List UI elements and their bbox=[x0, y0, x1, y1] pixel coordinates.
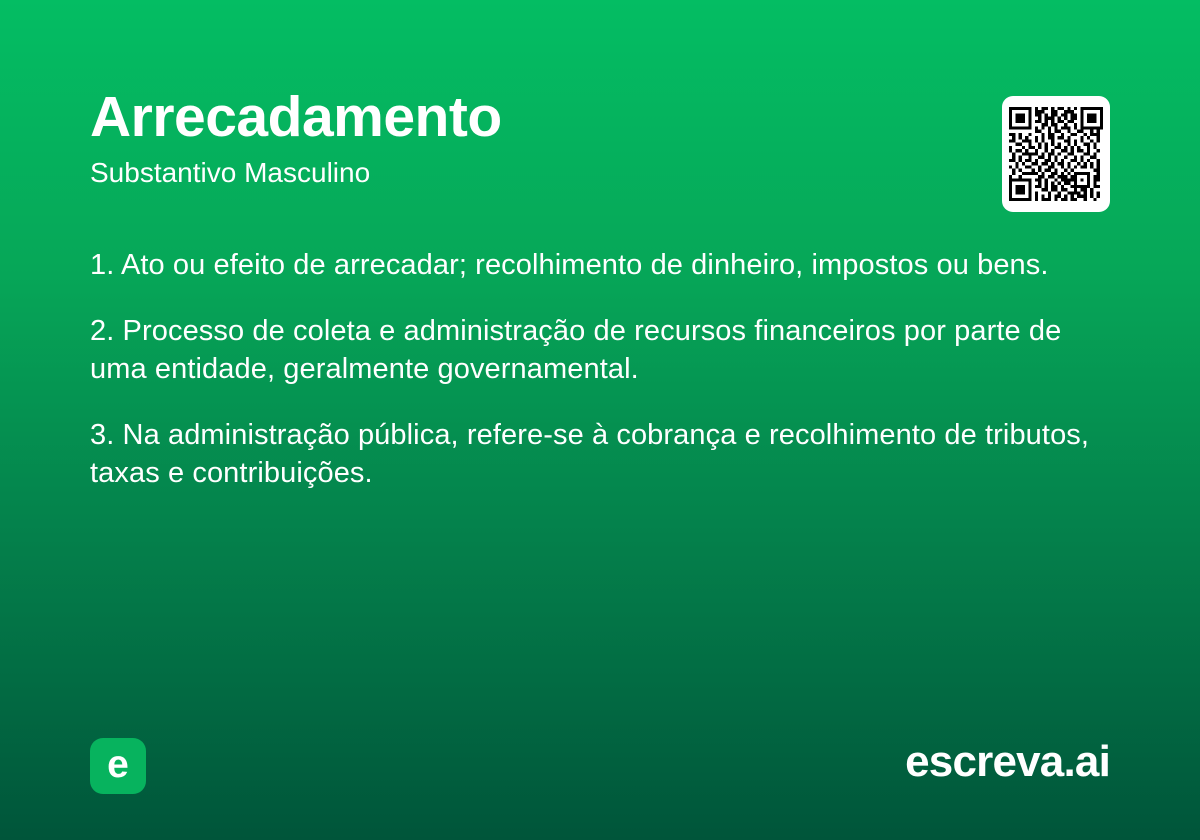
page-title: Arrecadamento bbox=[90, 88, 970, 148]
definitions-list: 1. Ato ou efeito de arrecadar; recolhime… bbox=[90, 246, 1110, 492]
word-class-label: Substantivo Masculino bbox=[90, 156, 970, 190]
definition-item: 1. Ato ou efeito de arrecadar; recolhime… bbox=[90, 246, 1110, 284]
qr-code-card[interactable] bbox=[1002, 96, 1110, 212]
header-block: Arrecadamento Substantivo Masculino bbox=[90, 88, 970, 189]
dictionary-card: Arrecadamento Substantivo Masculino bbox=[0, 0, 1200, 840]
footer: e escreva.ai bbox=[0, 710, 1200, 840]
qr-code-icon bbox=[1009, 107, 1103, 201]
brand-name: escreva.ai bbox=[905, 736, 1110, 789]
definition-item: 3. Na administração pública, refere-se à… bbox=[90, 416, 1110, 492]
definition-item: 2. Processo de coleta e administração de… bbox=[90, 312, 1110, 388]
brand-logo-icon: e bbox=[90, 738, 146, 794]
brand-logo-letter: e bbox=[107, 745, 129, 784]
